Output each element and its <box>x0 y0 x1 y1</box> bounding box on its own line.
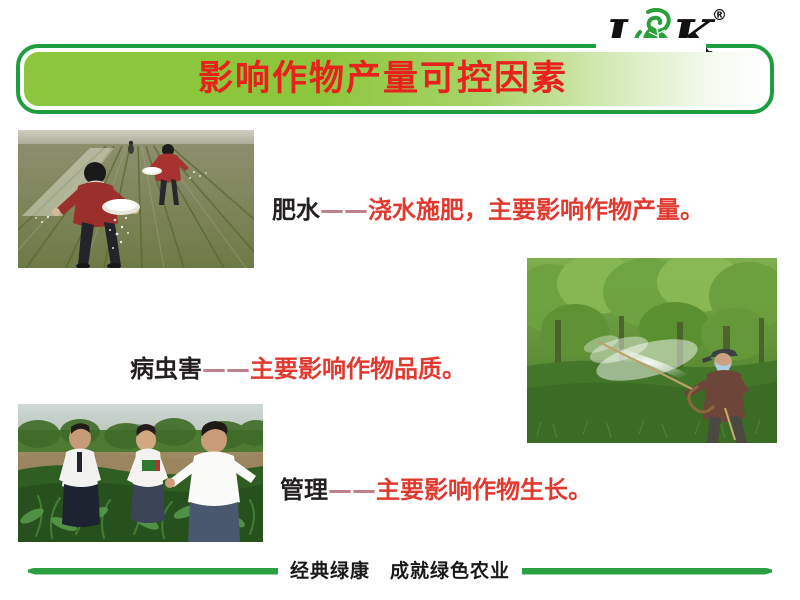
bullet-lead-fertilizer: 肥水 <box>272 196 320 224</box>
bullet-dash-management: —— <box>328 476 376 504</box>
bullet-body-management: 主要影响作物生长。 <box>376 476 592 504</box>
footer-slogan: 经典绿康 成就绿色农业 <box>278 562 522 581</box>
bullet-lead-pest: 病虫害 <box>130 355 202 383</box>
photo-pesticide-spraying <box>527 258 777 443</box>
page-title: 影响作物产量可控因素 <box>198 62 568 97</box>
distant-figure <box>128 141 134 154</box>
bullet-lead-management: 管理 <box>280 476 328 504</box>
title-banner: 影响作物产量可控因素 <box>24 52 766 106</box>
footer: 经典绿康 成就绿色农业 <box>0 556 800 586</box>
bullet-dash-pest: —— <box>202 355 250 383</box>
bullet-line-management: 管理——主要影响作物生长。 <box>280 476 592 505</box>
slide-root: L K ® 影响作物产量可控因素 <box>0 0 800 600</box>
registered-trademark-icon: ® <box>712 6 727 24</box>
footer-rule-left <box>28 568 278 575</box>
bullet-body-fertilizer: 浇水施肥，主要影响作物产量。 <box>368 196 704 224</box>
footer-rule-right <box>522 568 772 575</box>
photo-fertilizing-field <box>18 130 254 268</box>
bullet-line-fertilizer: 肥水——浇水施肥，主要影响作物产量。 <box>272 196 704 225</box>
photo-orchard-inspection <box>18 404 263 542</box>
bullet-dash-fertilizer: —— <box>320 196 368 224</box>
title-banner-frame-notch <box>596 38 706 52</box>
bullet-body-pest: 主要影响作物品质。 <box>250 355 466 383</box>
bullet-line-pest: 病虫害——主要影响作物品质。 <box>130 355 466 384</box>
